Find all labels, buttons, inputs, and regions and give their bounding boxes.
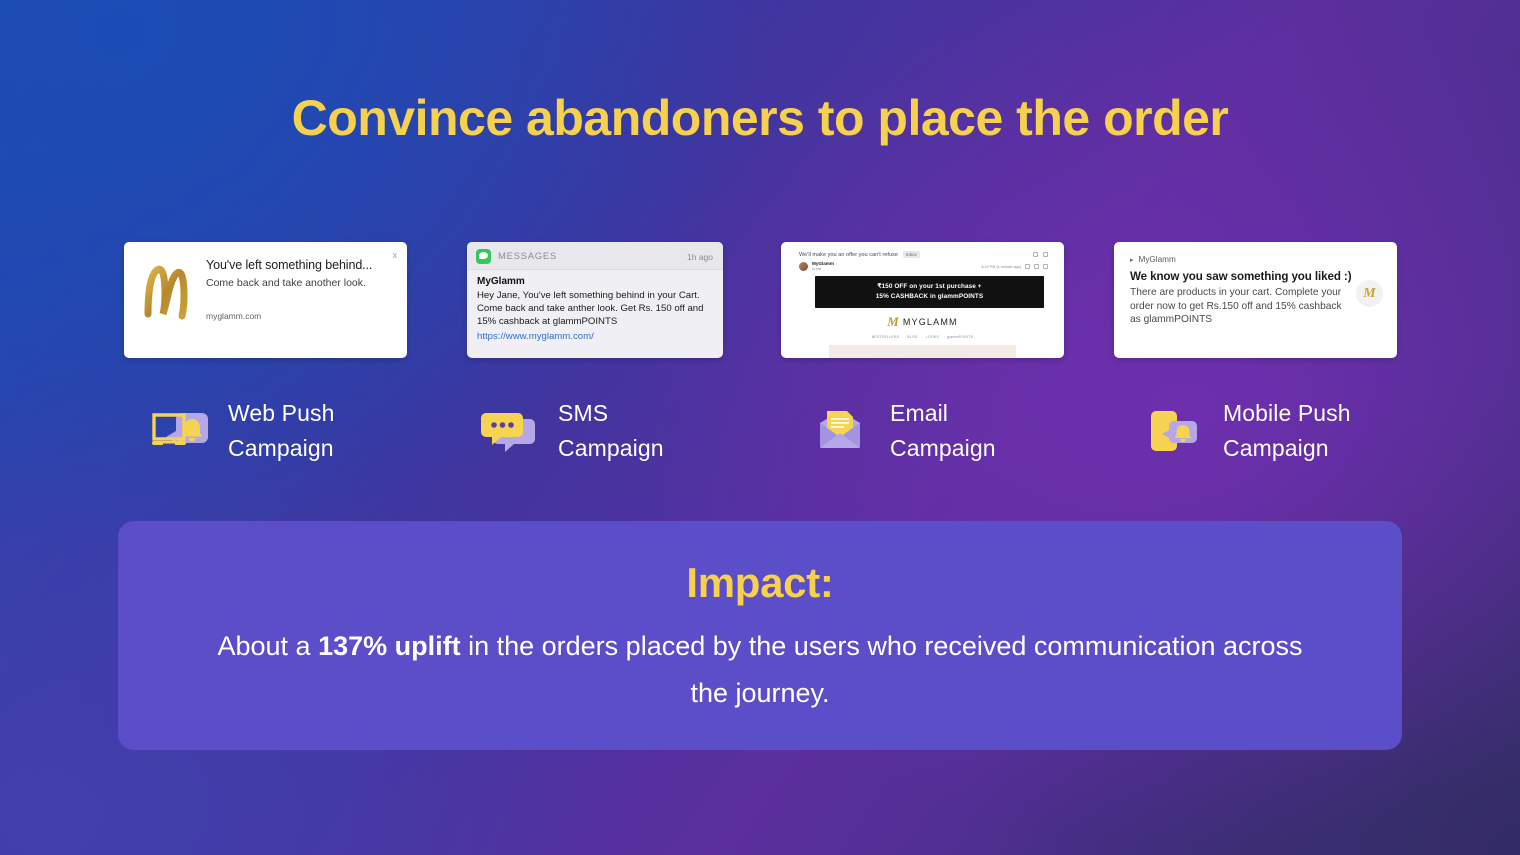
email-brand-name: MYGLAMM [903,317,958,327]
sms-app-name: MESSAGES [498,251,680,262]
channel-mobile-push: Mobile Push Campaign [1145,396,1351,465]
channel-label: Web Push Campaign [228,396,335,465]
messages-app-icon [476,249,491,264]
impact-title: Impact: [118,557,1402,609]
channel-list: Web Push Campaign SMS Campaign [0,396,1520,472]
email-subject: We'll make you an offer you can't refuse [799,252,898,258]
email-nav-item[interactable]: LOOKS [926,335,939,339]
impact-text: About a 137% uplift in the orders placed… [118,623,1402,717]
channel-sms: SMS Campaign [480,396,664,465]
channel-email: Email Campaign [812,396,996,465]
channel-label: Mobile Push Campaign [1223,396,1351,465]
sms-timestamp: 1h ago [687,252,713,262]
channel-label: SMS Campaign [558,396,664,465]
mobile-push-app-name: MyGlamm [1139,255,1176,264]
email-timestamp: 4:20 PM (1 minute ago) [981,265,1021,269]
print-icon[interactable] [1033,252,1038,257]
page-title: Convince abandoners to place the order [0,86,1520,150]
myglamm-logo-icon: M [1356,280,1383,307]
phone-bell-icon [1145,403,1209,459]
impact-highlight: 137% uplift [318,631,461,661]
mobile-push-text: There are products in your cart. Complet… [1130,286,1342,327]
envelope-letter-icon [812,403,876,459]
web-push-title: You've left something behind... [206,258,397,272]
web-push-preview-card: You've left something behind... Come bac… [124,242,407,358]
web-push-subtitle: Come back and take another look. [206,277,397,289]
open-in-new-icon[interactable] [1043,252,1048,257]
reply-icon[interactable] [1034,264,1039,269]
mobile-push-preview-card: ▸ MyGlamm We know you saw something you … [1114,242,1397,358]
sms-link[interactable]: https://www.myglamm.com/ [477,331,713,342]
star-icon[interactable] [1025,264,1030,269]
mobile-push-title: We know you saw something you liked :) [1130,270,1383,283]
more-options-icon[interactable] [1043,264,1048,269]
web-push-domain: myglamm.com [206,311,397,321]
email-banner-line1: ₹150 OFF on your 1st purchase + [819,282,1040,292]
avatar [799,262,808,271]
email-hero-image [829,345,1016,358]
laptop-bell-icon [150,403,214,459]
email-preview-card: We'll make you an offer you can't refuse… [781,242,1064,358]
email-offer-banner: ₹150 OFF on your 1st purchase + 15% CASH… [815,276,1044,308]
email-nav-item[interactable]: BESTSELLERS [872,335,899,339]
app-badge-icon: ▸ [1130,256,1134,264]
myglamm-logo-icon: M [887,316,899,328]
impact-text-after: in the orders placed by the users who re… [461,631,1303,708]
impact-panel: Impact: About a 137% uplift in the order… [118,521,1402,750]
myglamm-logo-icon [138,256,200,348]
email-nav: BESTSELLERS BLOG LOOKS glammPOINTS [791,335,1054,339]
channel-label: Email Campaign [890,396,996,465]
channel-previews: You've left something behind... Come bac… [0,242,1520,360]
email-brand-lockup: M MYGLAMM [791,316,1054,328]
impact-text-before: About a [217,631,318,661]
channel-web-push: Web Push Campaign [150,396,335,465]
sms-message-text: Hey Jane, You've left something behind i… [477,289,713,329]
email-nav-item[interactable]: BLOG [907,335,918,339]
sms-preview-card: MESSAGES 1h ago MyGlamm Hey Jane, You've… [467,242,723,358]
chat-bubble-dots-icon [480,403,544,459]
email-nav-item[interactable]: glammPOINTS [947,335,973,339]
email-sender: MyGlamm [812,261,834,266]
email-sender-sub: to me [812,267,834,272]
close-icon[interactable]: x [393,250,398,260]
email-banner-line2: 15% CASHBACK in glammPOINTS [819,292,1040,302]
email-inbox-tag: Inbox [903,251,920,258]
sms-sender: MyGlamm [477,276,713,287]
